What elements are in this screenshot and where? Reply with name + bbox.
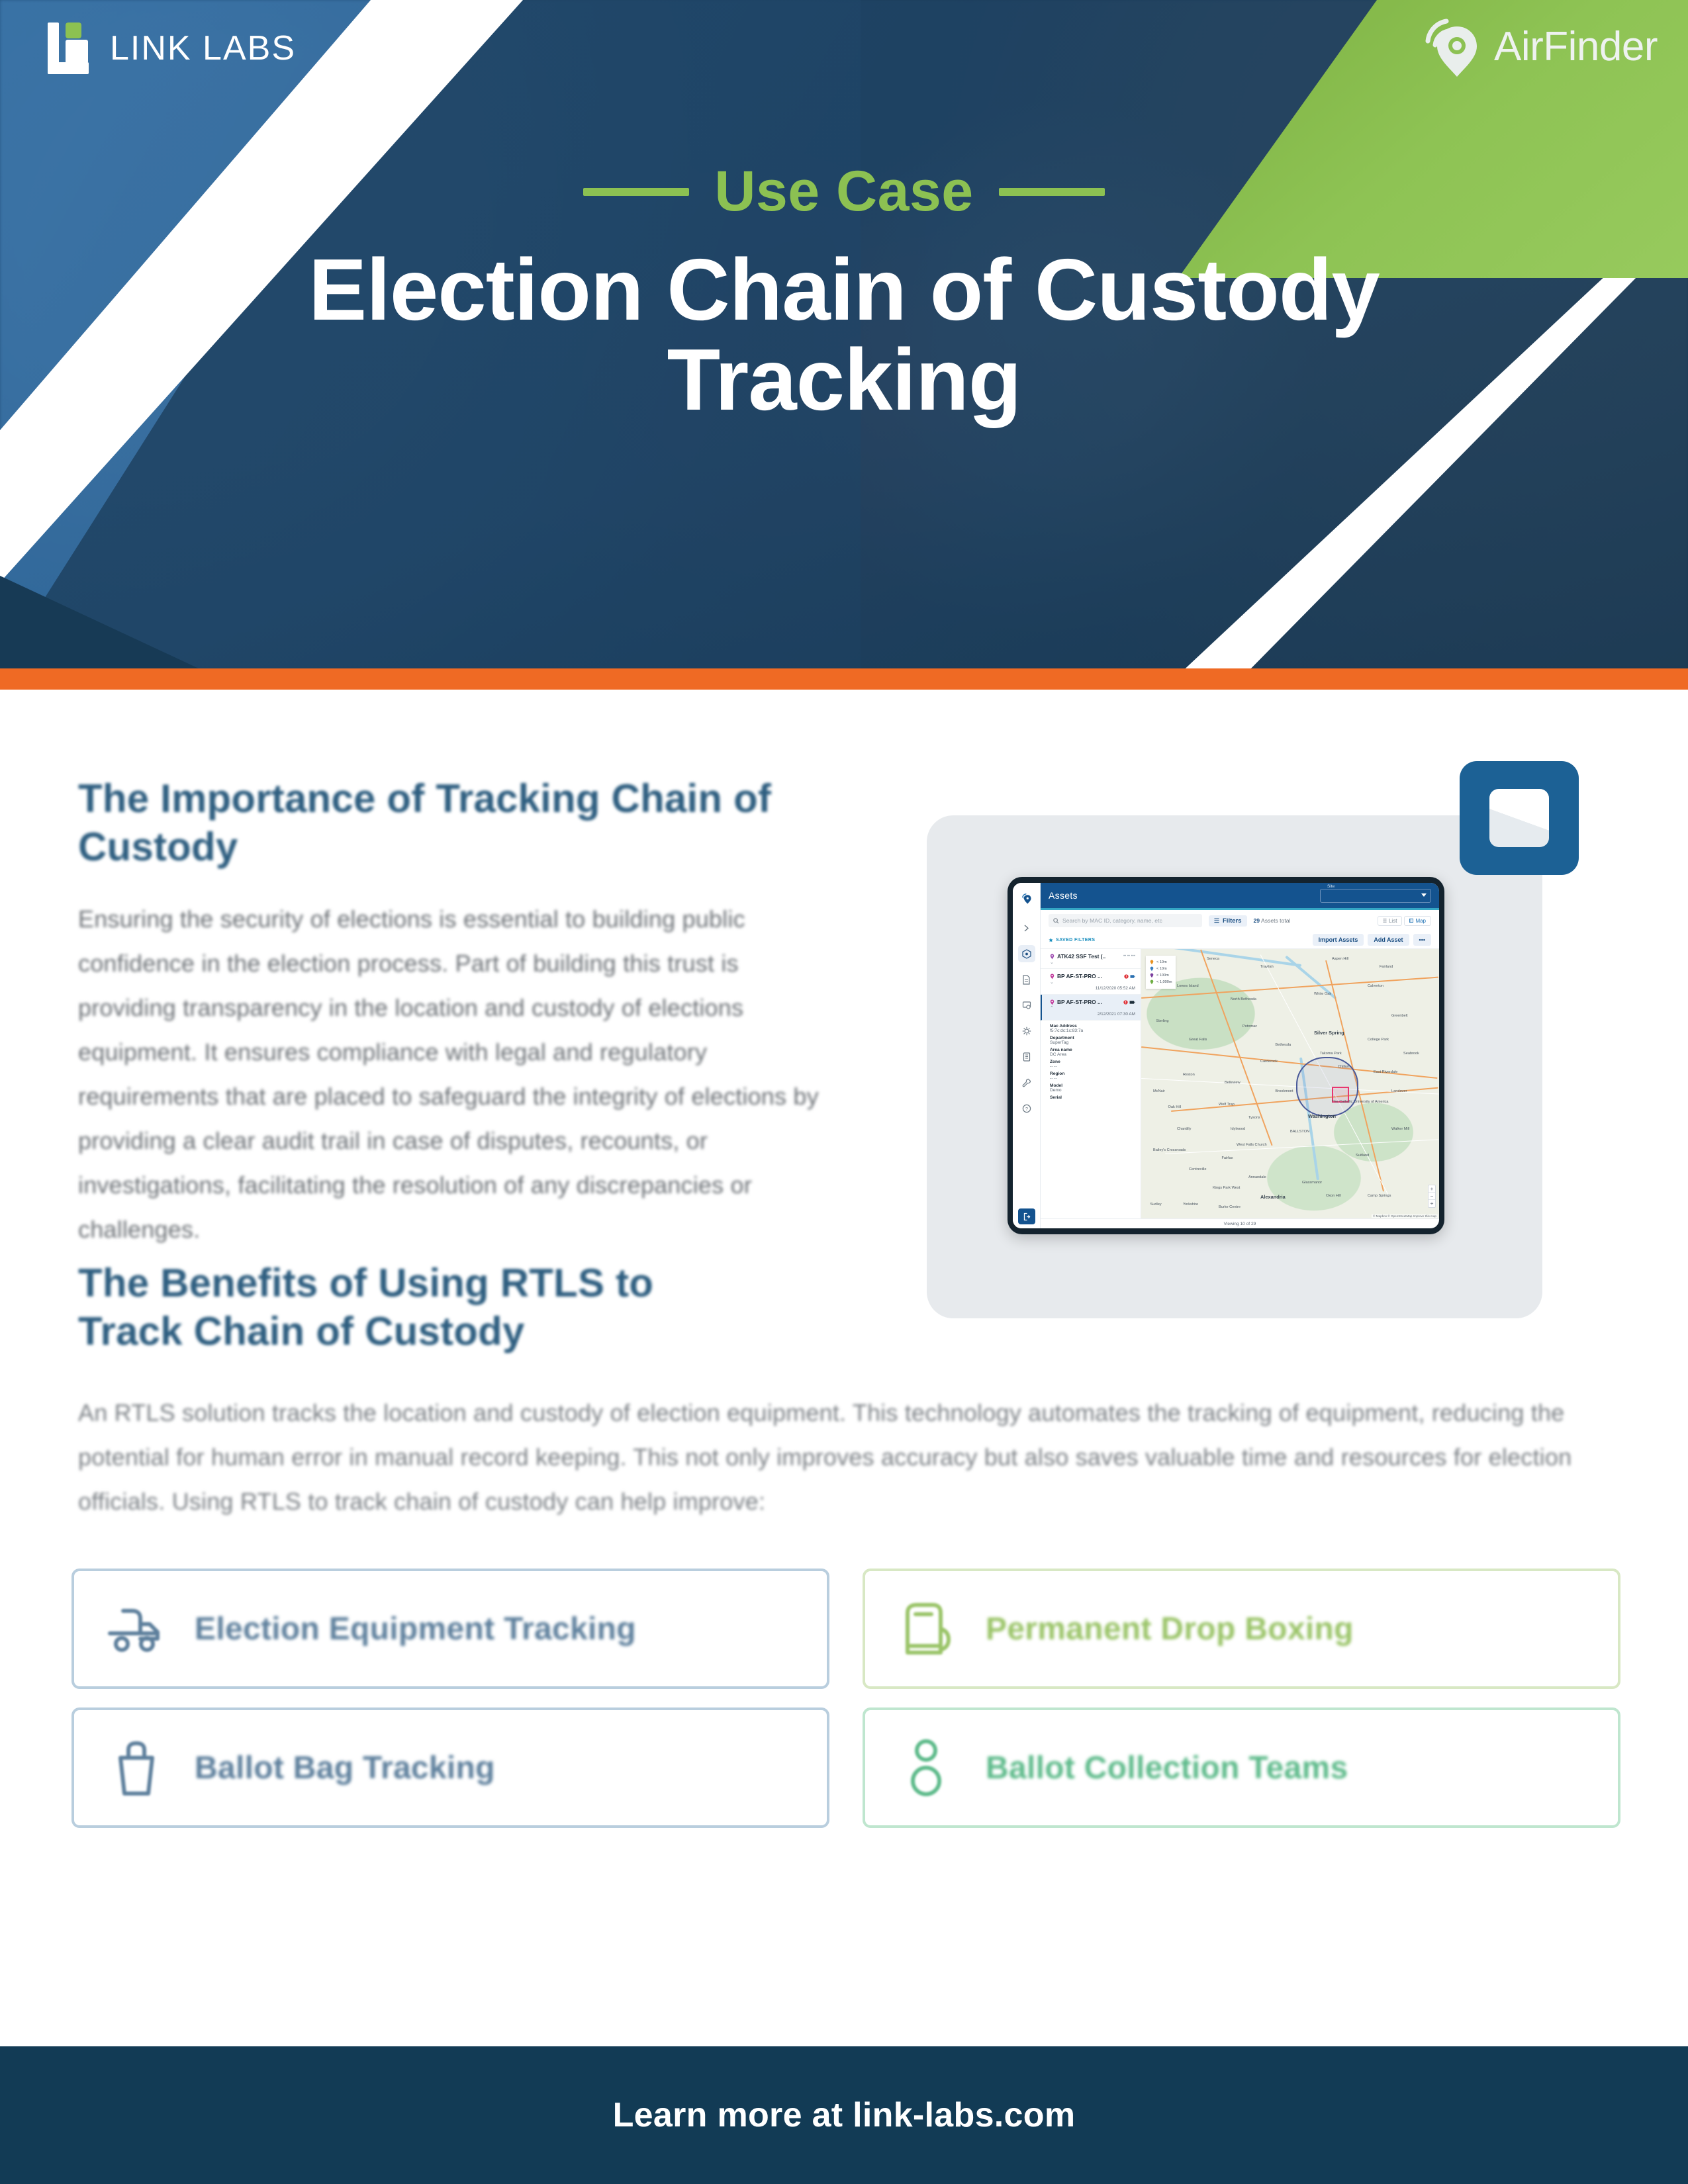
saved-filters-label: SAVED FILTERS [1056,938,1095,942]
import-assets-button[interactable]: Import Assets [1313,934,1364,946]
assets-map[interactable]: < 10m < 10m < 100m < 1,000m Seneca Travi… [1141,949,1439,1218]
detail-key: Region [1050,1071,1134,1076]
sidebar-item-tools[interactable] [1018,1074,1035,1091]
feature-box-label: Election Equipment Tracking [195,1611,636,1647]
sidebar-expand-chevron-icon[interactable] [1018,919,1035,936]
app-topbar: Assets Site [1041,883,1439,908]
map-zoom-controls[interactable]: + − ⌖ [1428,1185,1436,1208]
map-zoom-in-button[interactable]: + [1429,1185,1435,1193]
map-label: McNair [1153,1089,1165,1093]
detail-value: SuperTag [1050,1040,1134,1045]
map-label: Reston [1183,1073,1195,1077]
airfinder-wordmark: AirFinder [1494,23,1658,70]
battery-icon [1130,974,1135,979]
decorative-blue-badge [1460,761,1579,875]
map-label: Annandale [1248,1175,1266,1179]
legend-item: < 10m [1150,966,1172,972]
map-label: BALLSTON [1290,1130,1309,1134]
sidebar-item-assets[interactable] [1018,945,1035,962]
map-label: Oak Hill [1168,1105,1182,1109]
asset-list-footer: Viewing 10 of 29 [1041,1218,1439,1228]
map-label: Alexandria [1260,1194,1286,1200]
drop-box-icon [896,1598,957,1659]
asset-action-buttons: Import Assets Add Asset ••• [1313,934,1431,946]
asset-name: BP AF-ST-PRO ... [1057,973,1102,979]
map-label: Potomac [1243,1024,1257,1028]
map-compass-button[interactable]: ⌖ [1429,1200,1435,1207]
site-select-label: Site [1325,884,1336,889]
detail-key: Model [1050,1083,1134,1088]
feature-box-ballot-bag-tracking[interactable]: Ballot Bag Tracking [71,1707,829,1828]
page-footer: Learn more at link-labs.com [0,2046,1688,2184]
star-icon [1049,938,1053,942]
saved-filters-link[interactable]: SAVED FILTERS [1049,938,1095,942]
app-body: ATK42 SSF Test (.. •• •• ••• ⌄ BP AF-ST-… [1041,948,1439,1218]
importance-body: Ensuring the security of elections is es… [78,897,839,1252]
asset-timestamp: 2/12/2021 07:30 AM [1050,1012,1135,1017]
badge-inner-square-icon [1489,789,1549,847]
sidebar-item-grid[interactable] [1018,1048,1035,1066]
benefits-heading: The Benefits of Using RTLS to Track Chai… [78,1259,740,1355]
map-label: College Park [1368,1038,1389,1042]
map-label: Washington [1308,1113,1336,1119]
benefits-section: The Benefits of Using RTLS to Track Chai… [78,1259,740,1355]
airfinder-app-screen: ? Assets Site [1013,883,1439,1228]
sidebar-item-settings[interactable] [1018,1023,1035,1040]
map-label: Travilah [1260,965,1274,969]
map-label: Centreville [1189,1167,1206,1171]
add-asset-button[interactable]: Add Asset [1368,934,1409,946]
map-label: Aspen Hill [1332,957,1348,961]
feature-box-grid: Election Equipment Tracking Permanent Dr… [71,1569,1620,1846]
app-sidebar: ? [1013,883,1041,1228]
detail-key: Mac Address [1050,1024,1134,1028]
map-label: Walker Mill [1391,1127,1409,1131]
legend-label: < 100m [1156,974,1169,978]
map-label: Lowes Island [1177,984,1199,988]
map-label: Fairfax [1222,1156,1233,1160]
asset-list-item[interactable]: ATK42 SSF Test (.. •• •• ••• ⌄ [1041,949,1141,969]
map-label: Yorkshire [1183,1203,1198,1206]
search-input[interactable]: Search by MAC ID, category, name, etc [1049,914,1202,927]
filter-lines-icon [1214,918,1219,923]
map-label: Bethesda [1276,1043,1291,1047]
filters-button[interactable]: Filters [1209,915,1247,927]
map-label: Chantilly [1177,1127,1191,1131]
map-label: Oxon Hill [1326,1194,1341,1198]
link-labs-logo[interactable]: LINK LABS [48,23,296,74]
legend-item: < 10m [1150,960,1172,965]
asset-pin-icon [1050,999,1055,1005]
app-title: Assets [1049,890,1078,901]
battery-full-icon [1129,1000,1135,1005]
sidebar-item-reports[interactable] [1018,971,1035,988]
map-label: White Oak [1314,992,1331,996]
legend-item: < 1,000m [1150,979,1172,985]
detail-value: -- -- [1050,1064,1134,1069]
map-label: North Bethesda [1231,997,1256,1001]
asset-detail-panel: Mac Address f5:7c:dc:1c:83:7a Department… [1041,1021,1141,1103]
orange-accent-bar [0,668,1688,690]
asset-row-icons [1124,974,1135,979]
detail-key: Zone [1050,1060,1134,1064]
feature-box-row: Election Equipment Tracking Permanent Dr… [71,1569,1620,1689]
asset-list[interactable]: ATK42 SSF Test (.. •• •• ••• ⌄ BP AF-ST-… [1041,949,1141,1218]
chevron-down-icon [1421,893,1427,897]
assets-count-label: Assets total [1261,917,1290,924]
view-toggle-list[interactable]: List [1378,916,1402,926]
sidebar-item-devices[interactable] [1018,997,1035,1014]
asset-list-item-selected[interactable]: BP AF-ST-PRO ... ⌃ 2/12/2021 07:30 AM [1041,995,1141,1021]
map-label: Camp Springs [1368,1194,1391,1198]
view-map-label: Map [1415,918,1426,924]
feature-box-label: Ballot Collection Teams [986,1750,1348,1786]
app-main-panel: Assets Site Search by MAC ID, category, … [1041,883,1439,1228]
asset-row-icons: •• •• ••• [1123,954,1135,958]
people-icon [896,1737,957,1798]
footer-cta: Learn more at link-labs.com [613,2095,1076,2135]
map-label: Landover [1391,1089,1407,1093]
asset-row-icons [1123,1000,1135,1005]
map-zoom-out-button[interactable]: − [1429,1193,1435,1200]
map-label: Wolf Trap [1219,1103,1235,1107]
asset-expand-chevron-icon[interactable]: ⌄ [1050,979,1135,985]
link-labs-wordmark: LINK LABS [110,28,296,68]
page-title: Election Chain of Custody Tracking [0,245,1688,425]
eyebrow-rule-right [999,188,1105,196]
map-label: Suitland [1356,1154,1369,1158]
detail-key: Serial [1050,1095,1134,1100]
eyebrow-label: Use Case [714,159,973,224]
detail-value: DC Area [1050,1052,1134,1057]
detail-key: Area name [1050,1048,1134,1052]
list-icon [1383,919,1387,923]
sidebar-logout-button[interactable] [1018,1208,1035,1224]
tablet-device-mockup: ? Assets Site [1008,877,1444,1234]
feature-box-label: Ballot Bag Tracking [195,1750,495,1786]
map-label: Fairland [1380,965,1393,969]
legend-label: < 10m [1156,960,1167,964]
map-label: Brookmont [1276,1089,1293,1093]
benefits-body: An RTLS solution tracks the location and… [78,1391,1614,1524]
more-options-button[interactable]: ••• [1413,934,1431,946]
asset-pin-icon [1050,974,1055,979]
detail-key: Department [1050,1036,1134,1040]
map-label: East Riverdale [1374,1070,1397,1074]
view-toggle: List Map [1378,916,1431,926]
legend-label: < 10m [1156,967,1167,971]
map-label: Idylwood [1231,1127,1245,1131]
map-legend: < 10m < 10m < 100m < 1,000m [1146,956,1176,989]
app-logo-icon[interactable] [1013,886,1041,911]
legend-item: < 100m [1150,973,1172,978]
feature-box-election-equipment-tracking[interactable]: Election Equipment Tracking [71,1569,829,1689]
sidebar-item-help[interactable]: ? [1018,1100,1035,1117]
map-label: Silver Spring [1314,1030,1344,1036]
app-subtoolbar: SAVED FILTERS Import Assets Add Asset ••… [1041,931,1439,948]
map-label: Sudley [1150,1203,1162,1206]
filters-label: Filters [1223,917,1242,925]
feature-box-row: Ballot Bag Tracking Ballot Collection Te… [71,1707,1620,1828]
map-label: Takoma Park [1320,1052,1342,1056]
map-label: Calverton [1368,984,1383,988]
assets-count: 29 Assets total [1254,917,1291,924]
asset-list-item[interactable]: BP AF-ST-PRO ... ⌄ 11/12/2020 05:52 AM [1041,969,1141,995]
map-label: Belleview [1225,1081,1241,1085]
map-label: Seabrook [1403,1052,1419,1056]
use-case-flyer-page: LINK LABS AirFinder Use Case Election Ch [0,0,1688,2184]
cart-truck-icon [105,1598,165,1659]
hero-eyebrow: Use Case [0,159,1688,224]
ballot-bag-icon [105,1737,165,1798]
asset-pin-icon [1050,954,1055,960]
hero-banner: LINK LABS AirFinder Use Case Election Ch [0,0,1688,668]
view-list-label: List [1389,918,1397,924]
site-select[interactable]: Site [1320,889,1431,903]
detail-value: f5:7c:dc:1c:83:7a [1050,1028,1134,1033]
map-label: Sterling [1156,1019,1169,1023]
eyebrow-rule-left [583,188,689,196]
map-label: Tysons [1248,1116,1260,1120]
airfinder-pin-signal-icon [1419,12,1482,81]
map-attribution: © Mapbox © OpenStreetMap Improve this ma… [1372,1214,1438,1218]
map-label: Seneca [1207,957,1219,961]
feature-box-label: Permanent Drop Boxing [986,1611,1354,1647]
map-label: Greenbelt [1391,1014,1408,1018]
svg-text:?: ? [1025,1106,1027,1112]
search-placeholder: Search by MAC ID, category, name, etc [1062,917,1162,924]
assets-count-number: 29 [1254,917,1260,924]
legend-label: < 1,000m [1156,980,1172,984]
map-label: Kings Park West [1213,1186,1240,1190]
map-label: Carderock [1260,1060,1278,1064]
map-label: Great Falls [1189,1038,1207,1042]
detail-value: -- -- [1050,1076,1134,1081]
airfinder-logo[interactable]: AirFinder [1419,12,1658,81]
app-toolbar: Search by MAC ID, category, name, etc Fi… [1041,910,1439,931]
map-label: Chillum [1338,1065,1350,1069]
map-icon [1409,919,1413,923]
map-label: West Falls Church [1237,1143,1267,1147]
alert-icon [1123,1000,1128,1005]
asset-expand-chevron-icon[interactable]: ⌄ [1050,960,1135,965]
search-icon [1053,918,1059,924]
feature-box-permanent-drop-boxing[interactable]: Permanent Drop Boxing [863,1569,1620,1689]
alert-icon [1124,974,1129,979]
asset-name: ATK42 SSF Test (.. [1057,953,1105,960]
map-label: Bailey's Crossroads [1153,1148,1186,1152]
map-label: Burke Centre [1219,1205,1241,1209]
map-label: Glassmanor [1302,1181,1322,1185]
asset-name: BP AF-ST-PRO ... [1057,999,1102,1005]
view-toggle-map[interactable]: Map [1404,916,1431,926]
importance-heading: The Importance of Tracking Chain of Cust… [78,774,839,871]
map-label-university: The Catholic University of America [1332,1100,1389,1104]
importance-section: The Importance of Tracking Chain of Cust… [78,774,839,1252]
asset-collapse-chevron-icon[interactable]: ⌃ [1050,1005,1135,1011]
asset-timestamp: 11/12/2020 05:52 AM [1050,986,1135,991]
link-labs-mark-icon [48,23,93,74]
detail-value: Demo [1050,1088,1134,1093]
feature-box-ballot-collection-teams[interactable]: Ballot Collection Teams [863,1707,1620,1828]
